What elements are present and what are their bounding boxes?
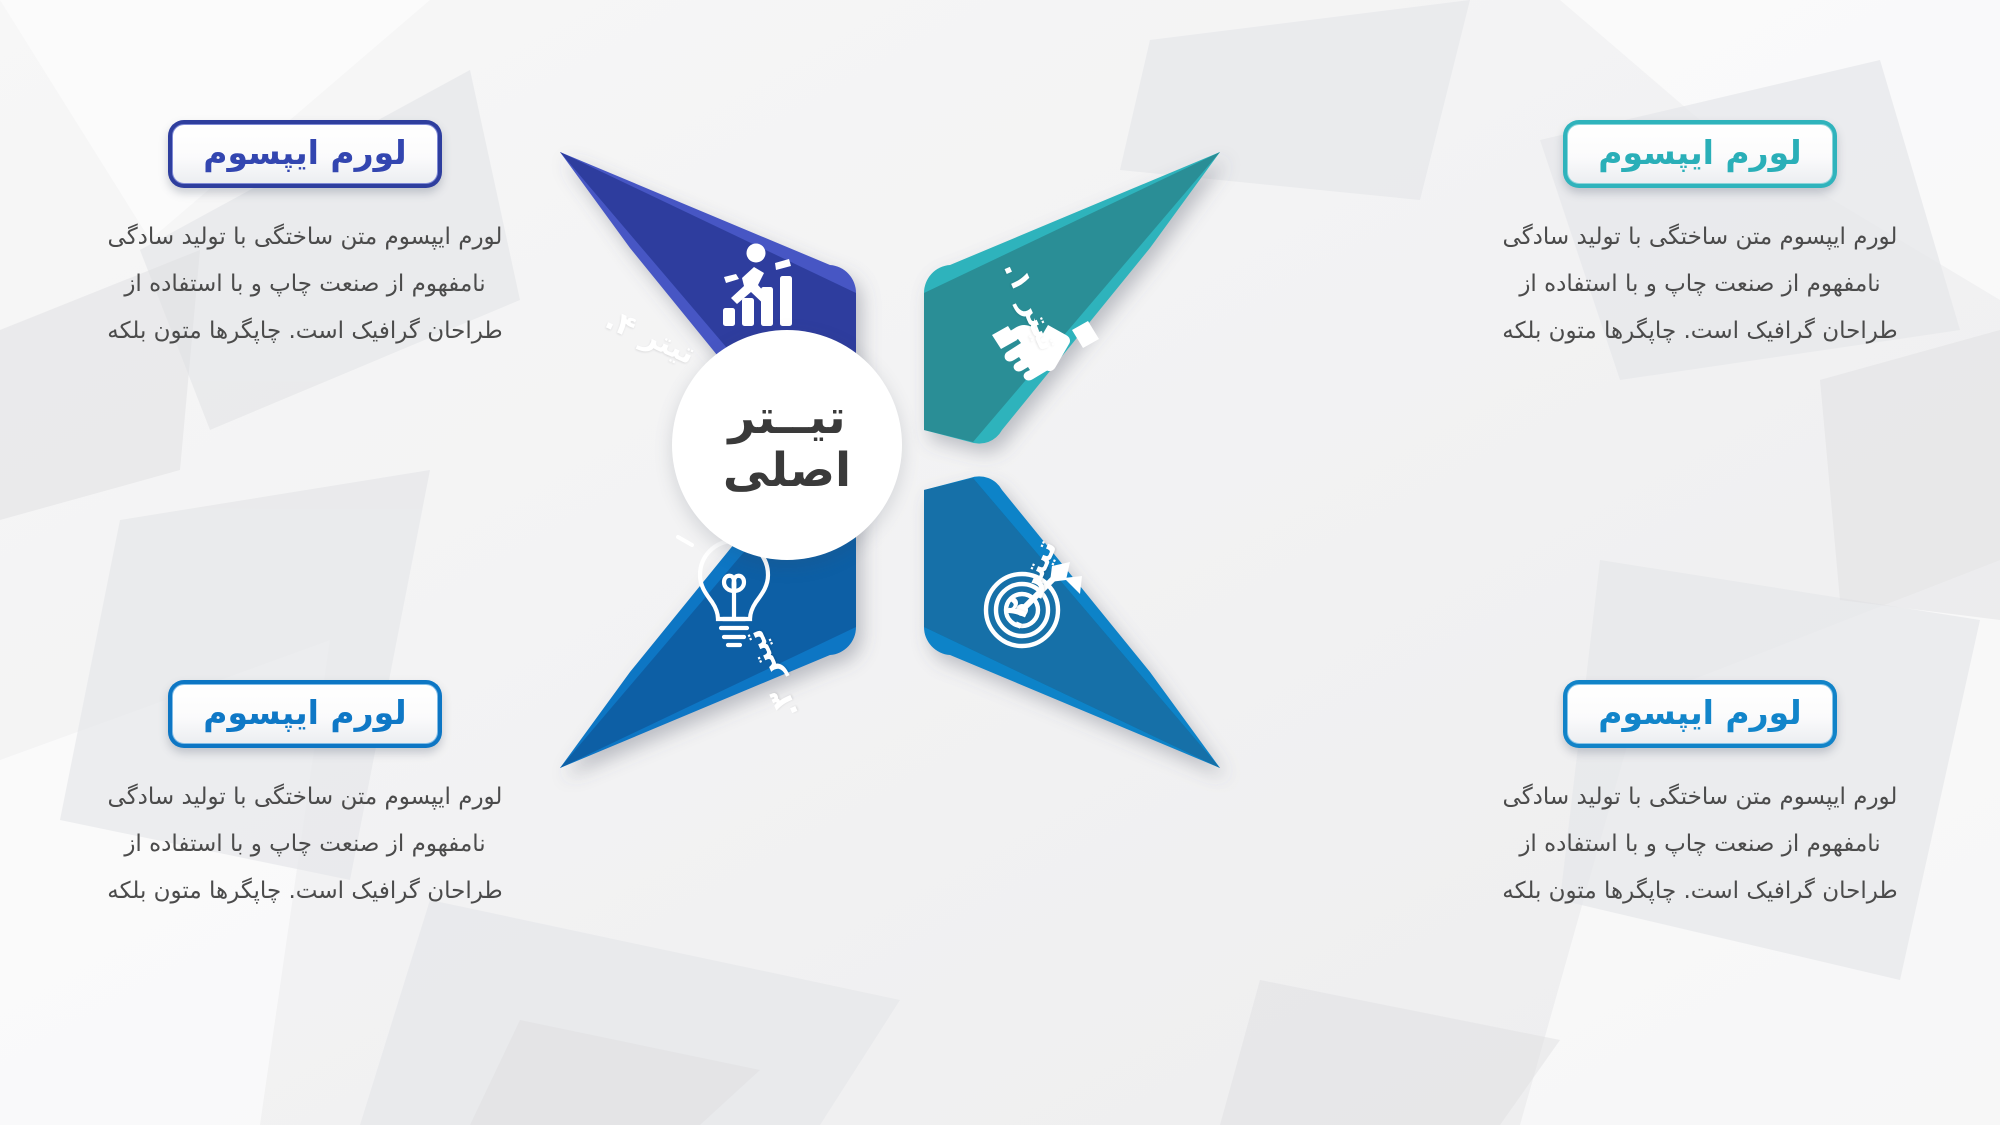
badge-bottom-right-plate: لورم ایپسوم xyxy=(1567,684,1832,744)
badge-top-right-label: لورم ایپسوم xyxy=(1598,136,1801,169)
petal-top-right[interactable] xyxy=(924,152,1220,444)
paragraph-top-right: لورم ایپسوم متن ساختگی با تولید سادگی نا… xyxy=(1485,214,1915,355)
paragraph-bottom-right: لورم ایپسوم متن ساختگی با تولید سادگی نا… xyxy=(1485,774,1915,915)
side-bottom-left: لورم ایپسوم لورم ایپسوم متن ساختگی با تو… xyxy=(90,680,520,915)
badge-top-left-plate: لورم ایپسوم xyxy=(172,124,437,184)
badge-bottom-right[interactable]: لورم ایپسوم xyxy=(1563,680,1836,748)
badge-top-right[interactable]: لورم ایپسوم xyxy=(1563,120,1836,188)
side-top-left: لورم ایپسوم لورم ایپسوم متن ساختگی با تو… xyxy=(90,120,520,355)
paragraph-top-left: لورم ایپسوم متن ساختگی با تولید سادگی نا… xyxy=(90,214,520,355)
center-title-line2: اصلی xyxy=(723,445,851,498)
badge-bottom-right-label: لورم ایپسوم xyxy=(1598,696,1801,729)
center-circle[interactable]: تیــتر اصلی xyxy=(672,330,902,560)
paragraph-bottom-left: لورم ایپسوم متن ساختگی با تولید سادگی نا… xyxy=(90,774,520,915)
badge-bottom-left-label: لورم ایپسوم xyxy=(203,696,406,729)
badge-top-left[interactable]: لورم ایپسوم xyxy=(168,120,441,188)
badge-top-right-plate: لورم ایپسوم xyxy=(1567,124,1832,184)
badge-top-left-label: لورم ایپسوم xyxy=(203,136,406,169)
center-title-line1: تیــتر xyxy=(723,392,851,445)
badge-bottom-left[interactable]: لورم ایپسوم xyxy=(168,680,441,748)
side-top-right: لورم ایپسوم لورم ایپسوم متن ساختگی با تو… xyxy=(1485,120,1915,355)
petal-bottom-right[interactable] xyxy=(924,476,1220,768)
badge-bottom-left-plate: لورم ایپسوم xyxy=(172,684,437,744)
center-title: تیــتر اصلی xyxy=(723,392,851,497)
side-bottom-right: لورم ایپسوم لورم ایپسوم متن ساختگی با تو… xyxy=(1485,680,1915,915)
